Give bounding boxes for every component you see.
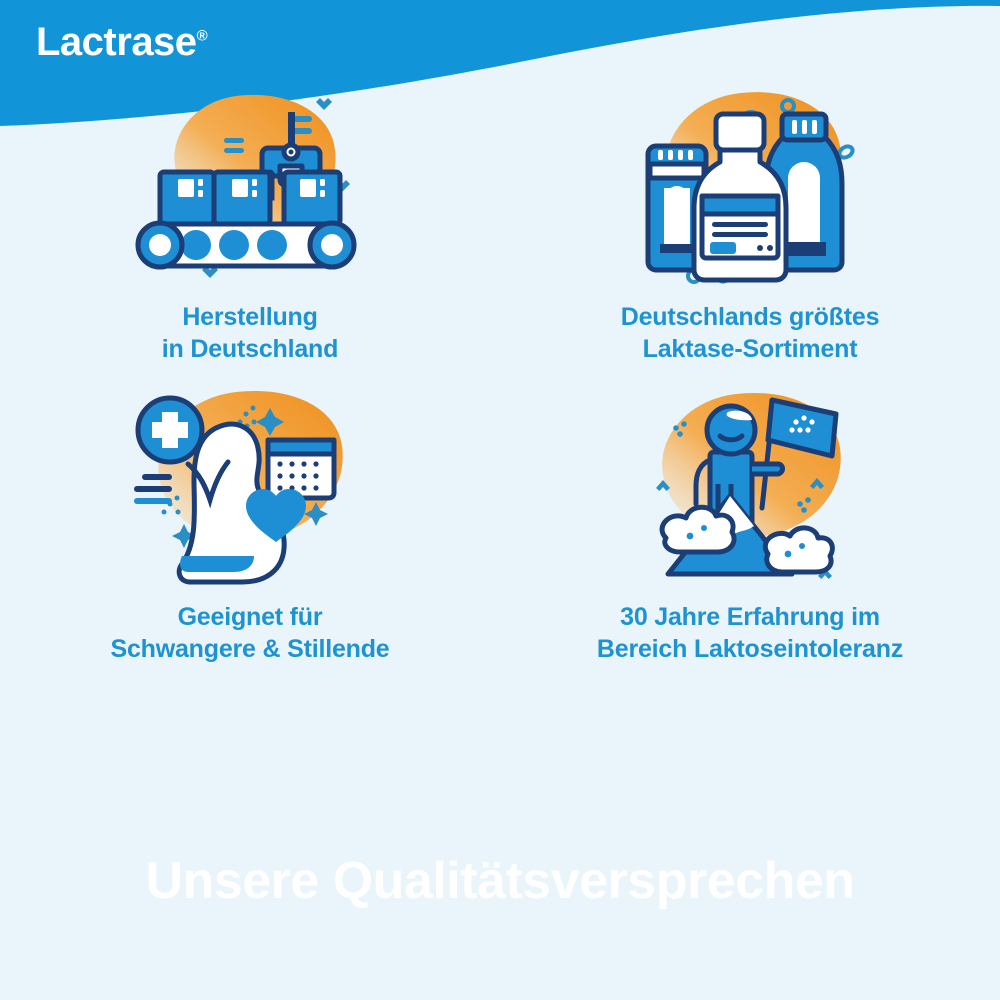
feature-card-pregnancy: Geeignet für Schwangere & Stillende — [0, 378, 500, 678]
feature-card-manufacturing: Herstellung in Deutschland — [0, 78, 500, 378]
brand-logo-name: Lactrase — [36, 20, 197, 64]
feature-card-assortment: Deutschlands größtes Laktase-Sortiment — [500, 78, 1000, 378]
feature-grid: Herstellung in Deutschland — [0, 78, 1000, 678]
feature-caption-pregnancy: Geeignet für Schwangere & Stillende — [110, 601, 389, 665]
brand-logo: Lactrase® — [36, 22, 208, 62]
feature-card-experience: 30 Jahre Erfahrung im Bereich Laktoseint… — [500, 378, 1000, 678]
feature-caption-manufacturing: Herstellung in Deutschland — [162, 301, 338, 365]
pregnant-woman-icon — [120, 378, 380, 593]
product-bottles-icon — [620, 78, 880, 293]
feature-caption-assortment: Deutschlands größtes Laktase-Sortiment — [621, 301, 880, 365]
factory-conveyor-icon — [120, 78, 380, 293]
feature-caption-experience: 30 Jahre Erfahrung im Bereich Laktoseint… — [597, 601, 903, 665]
registered-trademark-icon: ® — [197, 28, 208, 45]
footer-headline: Unsere Qualitätsversprechen — [0, 855, 1000, 907]
quality-promise-poster: Lactrase® — [0, 0, 1000, 1000]
mountain-flag-icon — [620, 378, 880, 593]
